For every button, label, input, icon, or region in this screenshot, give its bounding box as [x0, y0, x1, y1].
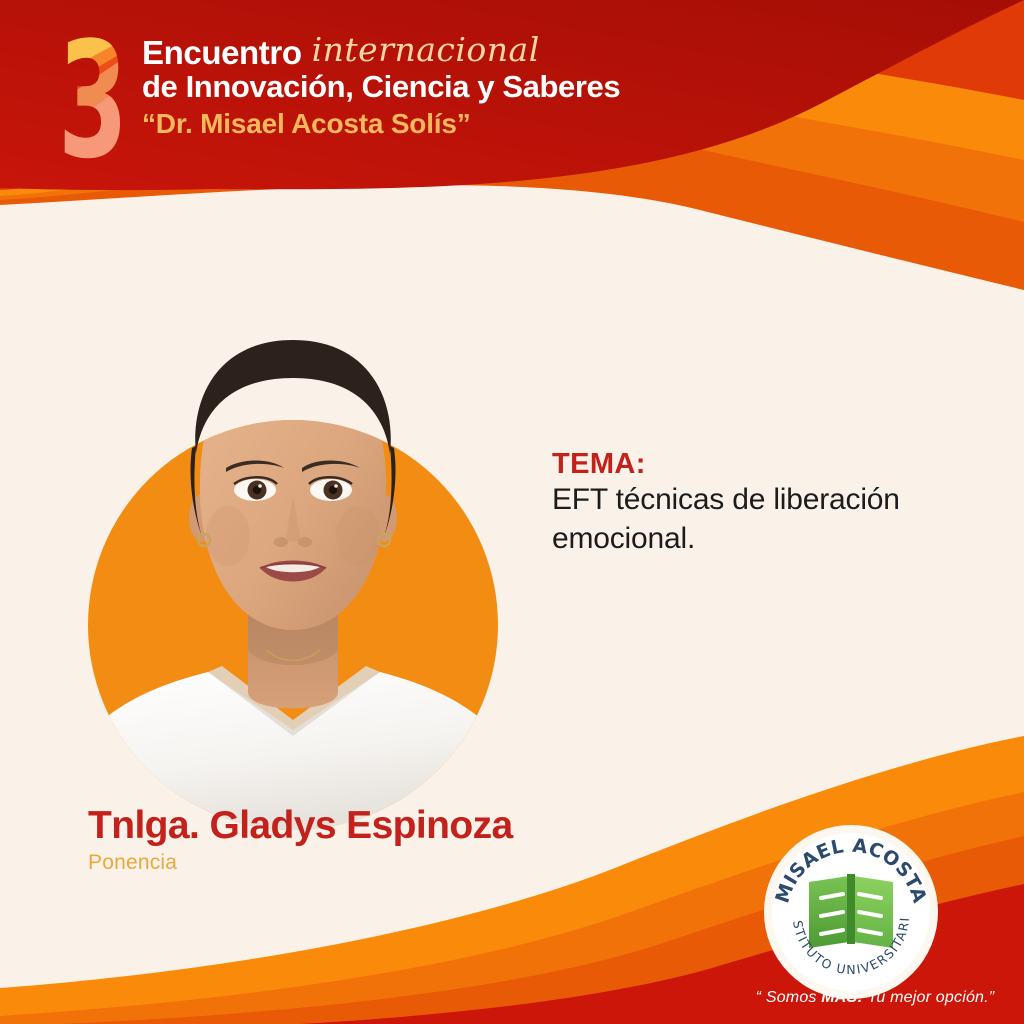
- header-line-3: “Dr. Misael Acosta Solís”: [142, 106, 620, 141]
- event-poster: 3 Encuentrointernacional de Innovación, …: [0, 0, 1024, 1024]
- speaker-info: Tnlga. Gladys Espinoza Ponencia: [88, 806, 513, 874]
- tagline-open: “ Somos: [756, 989, 822, 1006]
- header-word-internacional: internacional: [312, 30, 540, 69]
- topic-label: TEMA:: [552, 448, 972, 481]
- header-line-1: Encuentrointernacional: [142, 36, 620, 69]
- header-word-encuentro: Encuentro: [142, 34, 302, 71]
- portrait-photo: [88, 300, 498, 830]
- open-book-icon: [809, 874, 893, 948]
- tagline-rest: Tu mejor opción.”: [863, 989, 994, 1006]
- speaker-name: Tnlga. Gladys Espinoza: [88, 806, 513, 847]
- edition-numeral: 3: [56, 30, 130, 170]
- speaker-portrait: [88, 300, 508, 745]
- institution-seal: MISAEL ACOSTA INSTITUTO UNIVERSITARIO: [763, 824, 939, 1000]
- header-title-lines: Encuentrointernacional de Innovación, Ci…: [142, 24, 620, 141]
- speaker-role: Ponencia: [88, 851, 513, 874]
- footer-tagline: “ Somos MAS: Tu mejor opción.”: [744, 989, 1006, 1007]
- header-line-2: de Innovación, Ciencia y Saberes: [142, 69, 620, 106]
- tagline-mas: MAS:: [821, 989, 863, 1006]
- header: 3 Encuentrointernacional de Innovación, …: [56, 24, 676, 174]
- topic-line-1: EFT técnicas de liberación: [552, 481, 972, 519]
- topic-block: TEMA: EFT técnicas de liberación emocion…: [552, 448, 972, 558]
- topic-line-2: emocional.: [552, 520, 972, 558]
